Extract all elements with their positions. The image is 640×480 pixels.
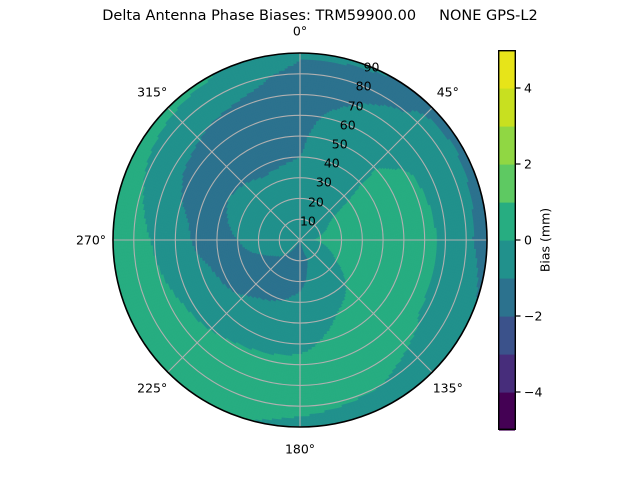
page-title: Delta Antenna Phase Biases: TRM59900.00 …: [0, 8, 640, 24]
figure-canvas: Delta Antenna Phase Biases: TRM59900.00 …: [0, 0, 640, 480]
polar-axes[interactable]: 0°45°90135°180°225°270°315° 102030405060…: [112, 52, 488, 428]
polar-plot-svg: [112, 52, 488, 428]
